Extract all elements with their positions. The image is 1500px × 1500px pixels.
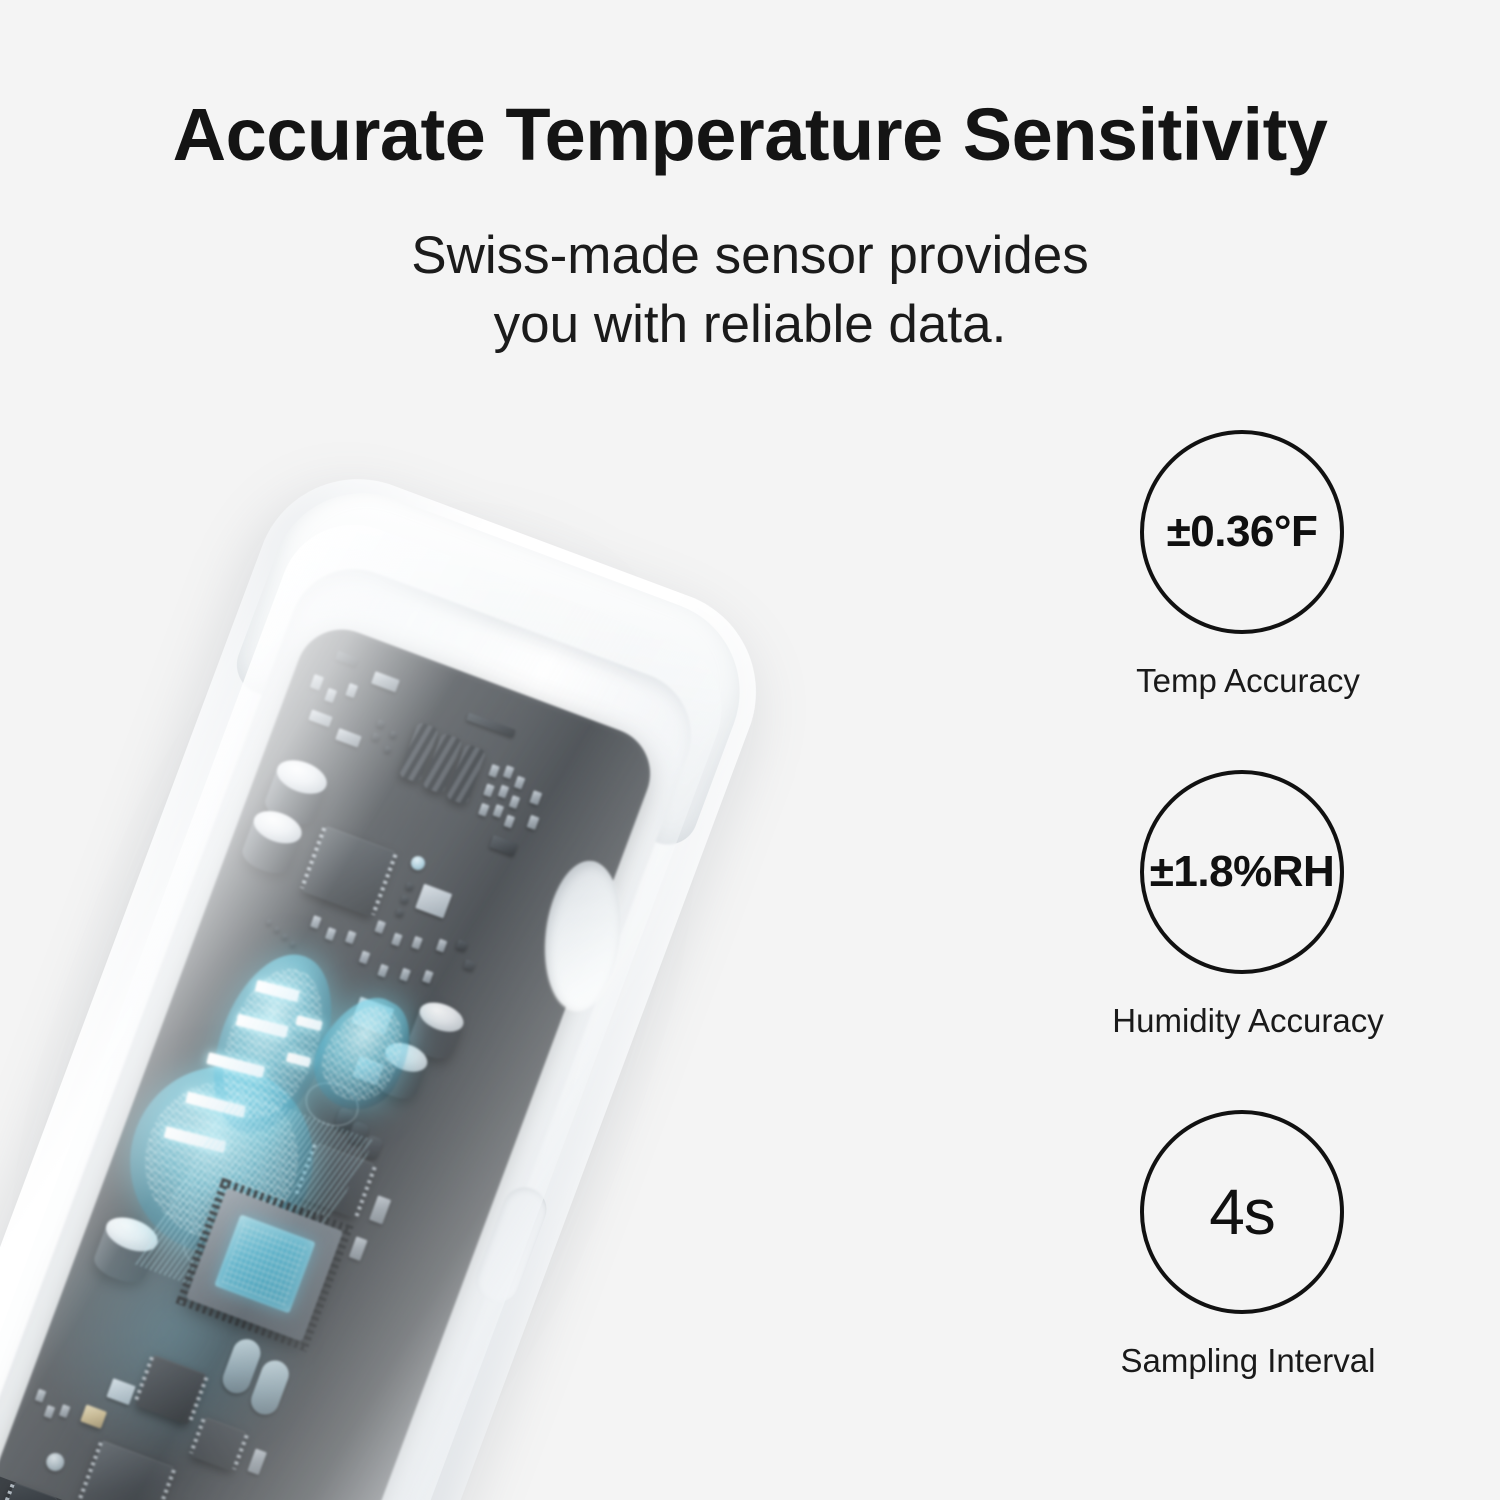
badge-label-sampling-interval: Sampling Interval [1048,1342,1448,1380]
spec-badge-list: ±0.36°F Temp Accuracy ±1.8%RH Humidity A… [1088,430,1408,1450]
page-title: Accurate Temperature Sensitivity [0,96,1500,174]
product-render-rotation [0,204,1175,1500]
badge-value-temp-accuracy: ±0.36°F [1167,507,1318,557]
badge-label-humidity-accuracy: Humidity Accuracy [1048,1002,1448,1040]
product-feature-page: Accurate Temperature Sensitivity Swiss-m… [0,0,1500,1500]
spec-badge-temp-accuracy: ±0.36°F Temp Accuracy [1088,430,1408,770]
circle-outline-icon: ±1.8%RH [1140,770,1344,974]
circle-outline-icon: ±0.36°F [1140,430,1344,634]
circle-outline-icon: 4s [1140,1110,1344,1314]
spec-badge-sampling-interval: 4s Sampling Interval [1088,1110,1408,1450]
subtitle-line-1: Swiss-made sensor provides [411,226,1088,285]
spec-badge-humidity-accuracy: ±1.8%RH Humidity Accuracy [1088,770,1408,1110]
badge-value-humidity-accuracy: ±1.8%RH [1150,847,1335,897]
badge-value-sampling-interval: 4s [1209,1175,1275,1249]
product-image [0,360,990,1500]
badge-label-temp-accuracy: Temp Accuracy [1048,662,1448,700]
